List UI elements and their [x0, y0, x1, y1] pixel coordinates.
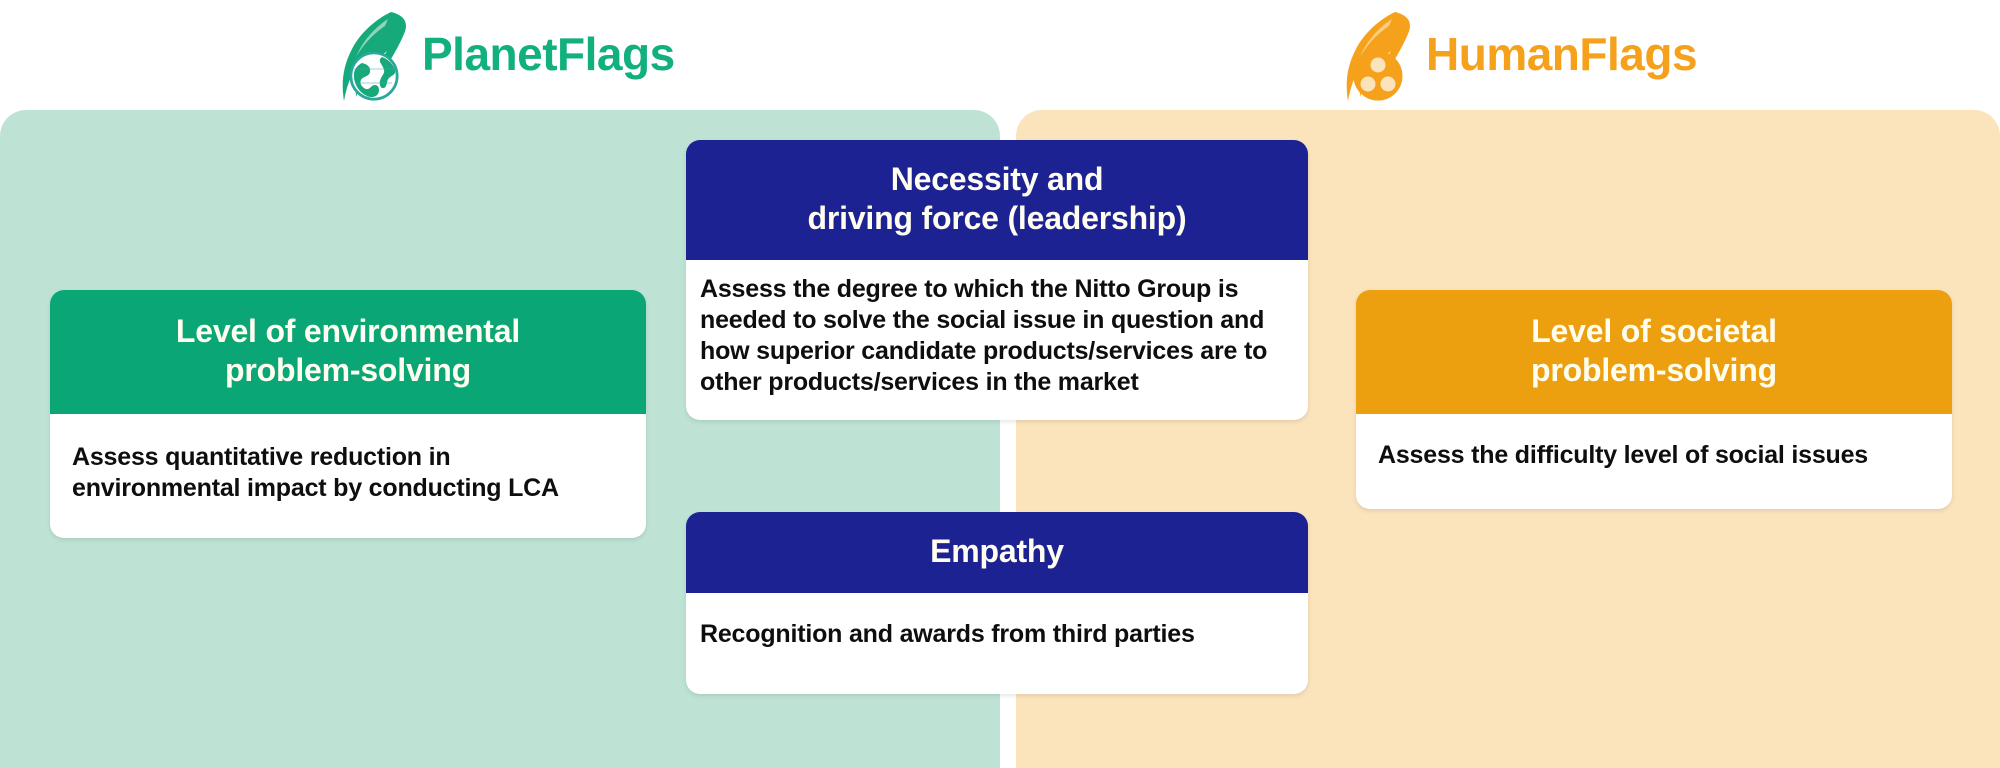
card-header-necessity-line1: Necessity and [702, 160, 1292, 199]
card-header-environmental-line1: Level of environmental [66, 312, 630, 351]
card-body-empathy: Recognition and awards from third partie… [686, 593, 1308, 694]
humanflags-wordmark: HumanFlags [1426, 31, 1697, 81]
humanflags-brand: HumanFlags [1334, 8, 1697, 104]
card-body-societal: Assess the difficulty level of social is… [1356, 414, 1952, 509]
card-level-of-societal-problem-solving: Level of societal problem-solving Assess… [1356, 290, 1952, 509]
card-header-environmental: Level of environmental problem-solving [50, 290, 646, 414]
card-header-necessity: Necessity and driving force (leadership) [686, 140, 1308, 260]
card-header-societal-line1: Level of societal [1372, 312, 1936, 351]
card-empathy: Empathy Recognition and awards from thir… [686, 512, 1308, 694]
card-header-societal: Level of societal problem-solving [1356, 290, 1952, 414]
card-body-environmental: Assess quantitative reduction in environ… [50, 414, 646, 538]
planetflags-brand: PlanetFlags [330, 8, 675, 104]
card-body-necessity: Assess the degree to which the Nitto Gro… [686, 260, 1308, 420]
planetflags-wordmark: PlanetFlags [422, 31, 675, 81]
card-level-of-environmental-problem-solving: Level of environmental problem-solving A… [50, 290, 646, 538]
card-header-societal-line2: problem-solving [1372, 351, 1936, 390]
card-header-empathy-line1: Empathy [702, 532, 1292, 571]
leaf-people-icon [1334, 9, 1420, 103]
leaf-globe-icon [330, 9, 416, 103]
diagram-root: PlanetFlags HumanFlags Level of environm… [0, 0, 2000, 768]
card-header-necessity-line2: driving force (leadership) [702, 199, 1292, 238]
card-header-environmental-line2: problem-solving [66, 351, 630, 390]
card-header-empathy: Empathy [686, 512, 1308, 593]
card-necessity-and-driving-force: Necessity and driving force (leadership)… [686, 140, 1308, 420]
